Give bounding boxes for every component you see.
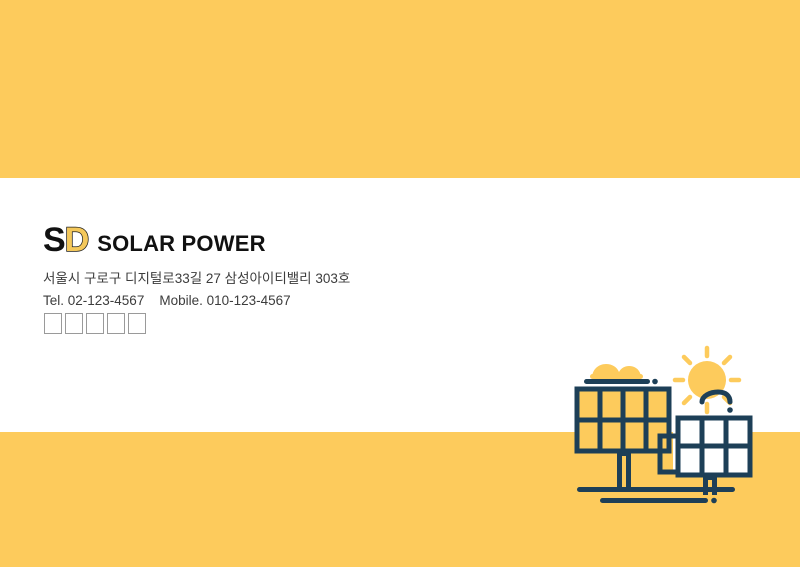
right-solar-panel <box>660 418 750 495</box>
logo-wordmark: SOLAR POWER <box>97 233 265 255</box>
top-color-band <box>0 0 800 178</box>
contact-block: 서울시 구로구 디지털로33길 27 삼성아이티밸리 303호 Tel. 02-… <box>43 268 350 312</box>
address-line: 서울시 구로구 디지털로33길 27 삼성아이티밸리 303호 <box>43 268 350 290</box>
missing-glyph-box <box>44 313 62 334</box>
left-solar-panel <box>577 389 669 487</box>
logo: S D SOLAR POWER <box>43 223 266 259</box>
cloud-icon <box>590 364 643 379</box>
phone-line: Tel. 02-123-4567 Mobile. 010-123-4567 <box>43 290 350 312</box>
logo-row: S D SOLAR POWER <box>43 223 266 259</box>
ground-rails <box>577 487 735 503</box>
logo-letter-d: D <box>65 223 89 257</box>
illustration-solar <box>560 330 770 510</box>
missing-glyph-box <box>65 313 83 334</box>
business-card: S D SOLAR POWER 서울시 구로구 디지털로33길 27 삼성아이티… <box>0 0 800 567</box>
missing-glyph-box <box>86 313 104 334</box>
missing-glyph-box <box>128 313 146 334</box>
left-panel-rail <box>584 379 658 385</box>
missing-glyph-row <box>44 313 146 334</box>
logo-letter-s: S <box>43 223 65 257</box>
missing-glyph-box <box>107 313 125 334</box>
